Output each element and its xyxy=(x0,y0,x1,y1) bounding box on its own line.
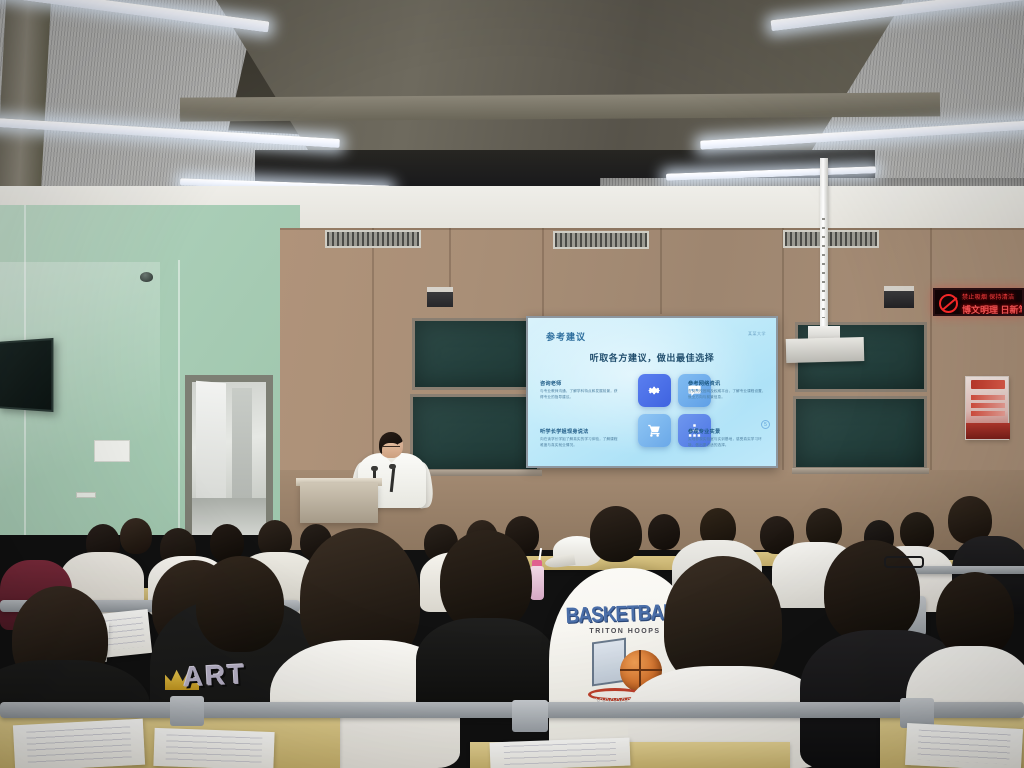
led-sign-line1: 禁止吸烟 保持清洁 xyxy=(962,292,1014,301)
seat-rail-clip xyxy=(512,700,548,732)
ceiling xyxy=(0,0,1024,210)
water-bottle xyxy=(530,566,544,600)
right-board-lower xyxy=(793,396,927,470)
air-vent-3 xyxy=(783,230,879,248)
wall-seam xyxy=(178,260,180,535)
wall-speaker-left xyxy=(427,287,453,307)
student-head-foreground xyxy=(440,530,532,632)
wall-outlet xyxy=(76,492,96,498)
quadrant-text: 实地参观实验室与实训基地，感受真实学习环境，做出更合适的选择。 xyxy=(688,437,768,448)
seat-rail-clip xyxy=(170,696,204,726)
lectern xyxy=(300,483,378,523)
security-camera xyxy=(140,272,153,282)
projector-mount-pole xyxy=(820,158,828,333)
air-vent-2 xyxy=(553,231,649,249)
glasses-icon xyxy=(382,446,400,450)
led-scrolling-sign: 禁止吸烟 保持清洁 博文明理 日新笃行 xyxy=(933,288,1024,316)
paper-lines xyxy=(504,742,617,765)
quadrant-label: 参考网络资讯 xyxy=(688,380,768,387)
wall-mounted-monitor xyxy=(0,338,53,412)
presentation-slide: 参考建议 某某大学 听取各方建议，做出最佳选择 咨询老师 与专业教 xyxy=(528,318,776,466)
slide-node-badge: 5 xyxy=(761,420,770,429)
handout-paper[interactable] xyxy=(905,723,1023,768)
slide-logo: 某某大学 xyxy=(748,331,766,337)
air-vent-1 xyxy=(325,230,421,248)
wall-panel-box xyxy=(94,440,130,462)
slide-title: 参考建议 xyxy=(546,330,586,343)
handout-paper[interactable] xyxy=(13,719,145,768)
slide-headline: 听取各方建议，做出最佳选择 xyxy=(528,351,776,364)
no-smoking-icon xyxy=(939,294,958,313)
left-board-upper xyxy=(412,318,540,390)
slide-quadrant-4: 参观专业实景 实地参观实验室与实训基地，感受真实学习环境，做出更合适的选择。 xyxy=(688,428,768,448)
student-head xyxy=(120,518,152,554)
poster-image-area xyxy=(966,423,1010,439)
student-head xyxy=(648,514,680,550)
poster-line xyxy=(971,403,1005,408)
ceiling-mounted-projector xyxy=(786,337,865,363)
quadrant-text: 查阅院校官网及权威平台，了解专业课程设置、就业方向与前景信息。 xyxy=(688,389,768,400)
poster-line xyxy=(971,395,1005,400)
podium-mic-right-head xyxy=(389,464,396,469)
quadrant-label: 参观专业实景 xyxy=(688,428,768,435)
corridor-wall xyxy=(232,388,252,498)
handout-paper[interactable] xyxy=(153,728,274,768)
handout-paper[interactable] xyxy=(490,738,631,768)
slide-quadrant-2: 参考网络资讯 查阅院校官网及权威平台，了解专业课程设置、就业方向与前景信息。 xyxy=(688,380,768,400)
quadrant-label: 咨询老师 xyxy=(540,380,620,387)
quadrant-text: 向在读学长学姐了解真实的学习体验，了解课程难度与真实就业情况。 xyxy=(540,437,620,448)
slide-quadrant-1: 咨询老师 与专业教师沟通，了解学科特点和发展前景，获得专业的指导建议。 xyxy=(540,380,620,400)
paper-lines xyxy=(166,734,263,764)
left-board-lower xyxy=(410,394,540,472)
glasses-icon xyxy=(884,556,924,568)
projection-screen: 参考建议 某某大学 听取各方建议，做出最佳选择 咨询老师 与专业教 xyxy=(526,316,778,468)
poster-title-bar xyxy=(971,380,1005,389)
wall-seam xyxy=(542,228,544,318)
quadrant-text: 与专业教师沟通，了解学科特点和发展前景，获得专业的指导建议。 xyxy=(540,389,620,400)
wall-speaker-right xyxy=(884,286,914,308)
student-head-foreground xyxy=(196,556,284,652)
paper-lines xyxy=(917,730,1011,764)
student-head xyxy=(900,512,934,550)
wall-seam xyxy=(449,228,451,290)
slide-quadrant-3: 听学长学姐现身说法 向在读学长学姐了解真实的学习体验，了解课程难度与真实就业情况… xyxy=(540,428,620,448)
lecture-hall-photo: 禁止吸烟 保持清洁 博文明理 日新笃行 参考建议 某某大学 听取各方建议，做出最… xyxy=(0,0,1024,768)
wall-seam xyxy=(660,228,662,314)
student-head xyxy=(590,506,642,562)
paper-lines xyxy=(26,726,132,764)
led-sign-line2: 博文明理 日新笃行 xyxy=(962,303,1024,316)
gear-icon xyxy=(638,374,671,407)
poster-line xyxy=(971,411,1005,416)
art-shirt-text: ART xyxy=(182,658,247,693)
quadrant-label: 听学长学姐现身说法 xyxy=(540,428,620,435)
wall-poster xyxy=(965,376,1009,440)
podium-mic-left-head xyxy=(371,466,378,471)
cart-icon xyxy=(638,414,671,447)
corridor-wall xyxy=(196,381,226,502)
chalk-tray xyxy=(792,468,929,474)
